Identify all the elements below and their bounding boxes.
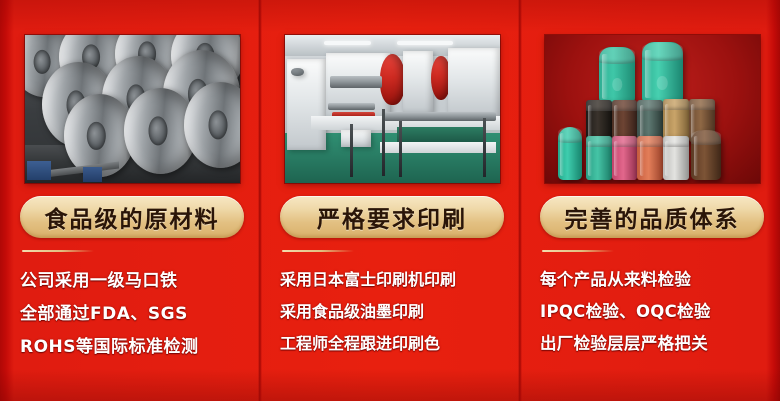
conveyor-deck — [380, 142, 496, 154]
tea-tin — [612, 136, 638, 180]
press-unit — [341, 130, 371, 148]
tea-tins-image — [545, 35, 760, 183]
panel-badge: 食品级的原材料 — [20, 196, 244, 238]
panel-row: 食品级的原材料 公司采用一级马口铁 全部通过FDA、SGS ROHS等国际标准检… — [0, 0, 780, 401]
tea-tin — [586, 136, 612, 180]
description-line: 采用食品级油墨印刷 — [280, 298, 508, 322]
tin-highlight — [694, 136, 699, 176]
printing-machine-image — [285, 35, 500, 183]
tin-highlight — [614, 105, 618, 138]
green-bed — [397, 127, 483, 142]
panel-badge-label: 严格要求印刷 — [317, 200, 467, 234]
tea-tin-large — [642, 42, 683, 103]
feature-panel-quality[interactable]: 完善的品质体系 每个产品从来料检验 IPQC检验、OQC检验 出厂检验层层严格把… — [520, 0, 780, 401]
ceiling-light — [324, 41, 371, 44]
feature-panel-printing[interactable]: 严格要求印刷 采用日本富士印刷机印刷 采用食品级油墨印刷 工程师全程跟进印刷色 — [260, 0, 520, 401]
tin-highlight — [560, 133, 564, 176]
press-unit — [403, 51, 433, 113]
printing-machine-photo — [285, 35, 500, 183]
panel-description: 采用日本富士印刷机印刷 采用食品级油墨印刷 工程师全程跟进印刷色 — [280, 266, 508, 362]
support-post — [399, 121, 402, 177]
panel-badge-label: 完善的品质体系 — [565, 200, 740, 234]
tin-logo — [657, 76, 668, 89]
press-unit — [448, 48, 500, 116]
steel-coils-image — [25, 35, 240, 183]
tea-tin — [663, 136, 689, 180]
blue-pallet — [83, 167, 102, 182]
tin-highlight — [614, 141, 618, 177]
badge-underline — [542, 250, 614, 252]
tin-highlight — [640, 105, 644, 138]
roller — [328, 103, 375, 110]
tin-highlight — [665, 104, 669, 138]
tea-tin — [637, 136, 663, 180]
tin-highlight — [665, 141, 669, 177]
ceiling-light — [397, 41, 453, 44]
panel-badge-label: 食品级的原材料 — [45, 200, 220, 234]
panel-badge: 完善的品质体系 — [540, 196, 764, 238]
description-line: 出厂检验层层严格把关 — [540, 330, 768, 354]
roller — [330, 76, 382, 88]
tin-highlight — [602, 54, 608, 99]
badge-underline — [22, 250, 94, 252]
description-line: 采用日本富士印刷机印刷 — [280, 266, 508, 290]
roller-bank — [384, 112, 496, 121]
tin-highlight — [640, 141, 644, 177]
tin-logo — [612, 78, 622, 90]
tin-highlight — [588, 141, 592, 177]
description-line: 每个产品从来料检验 — [540, 266, 768, 290]
description-line: 公司采用一级马口铁 — [20, 266, 248, 291]
support-post — [483, 118, 486, 177]
tea-tin-large — [599, 47, 636, 103]
tin-highlight — [588, 105, 592, 138]
tin-highlight — [645, 50, 652, 99]
description-line: 工程师全程跟进印刷色 — [280, 330, 508, 354]
description-line: 全部通过FDA、SGS — [20, 299, 248, 324]
support-post — [382, 109, 385, 176]
steel-coils-photo — [25, 35, 240, 183]
badge-underline — [282, 250, 354, 252]
panel-description: 公司采用一级马口铁 全部通过FDA、SGS ROHS等国际标准检测 — [20, 266, 248, 365]
blue-pallet — [27, 161, 51, 180]
tea-tins-photo — [545, 35, 760, 183]
tea-tin — [691, 130, 721, 180]
feature-panel-raw-material[interactable]: 食品级的原材料 公司采用一级马口铁 全部通过FDA、SGS ROHS等国际标准检… — [0, 0, 260, 401]
panel-badge: 严格要求印刷 — [280, 196, 504, 238]
description-line: ROHS等国际标准检测 — [20, 332, 248, 357]
panel-description: 每个产品从来料检验 IPQC检验、OQC检验 出厂检验层层严格把关 — [540, 266, 768, 362]
support-post — [350, 124, 353, 177]
promo-banner: 食品级的原材料 公司采用一级马口铁 全部通过FDA、SGS ROHS等国际标准检… — [0, 0, 780, 401]
description-line: IPQC检验、OQC检验 — [540, 298, 768, 322]
tea-tin — [558, 127, 582, 180]
red-drum — [380, 54, 406, 104]
